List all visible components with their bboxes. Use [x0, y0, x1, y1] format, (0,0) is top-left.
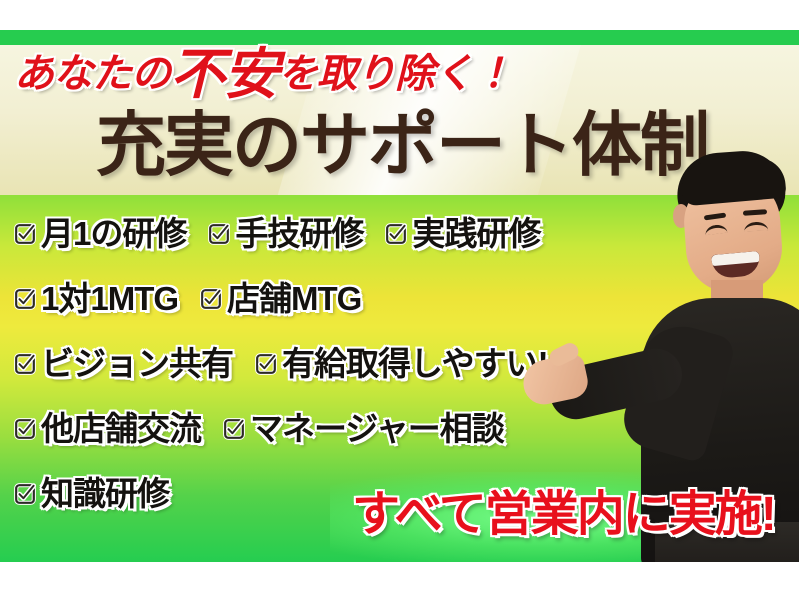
list-item-label: 手技研修 — [235, 217, 363, 250]
checkbox-checked-icon — [14, 353, 36, 375]
checkbox-checked-icon — [14, 288, 36, 310]
bottom-letterbox — [0, 562, 799, 600]
checkbox-checked-icon — [200, 288, 222, 310]
list-item: 店舗MTG — [200, 282, 361, 315]
list-item: ビジョン共有 — [14, 347, 233, 380]
list-item: 他店舗交流 — [14, 412, 201, 445]
checkbox-checked-icon — [223, 418, 245, 440]
list-item: 有給取得しやすい! — [255, 347, 548, 380]
checklist-row: 1対1MTG 店舗MTG — [14, 282, 383, 315]
checklist-row: 他店舗交流 マネージャー相談 — [14, 412, 526, 445]
list-item: 実践研修 — [385, 217, 540, 250]
list-item-label: 実践研修 — [412, 217, 540, 250]
checkbox-checked-icon — [14, 483, 36, 505]
kicker-small-text: あなたの — [14, 54, 170, 94]
page-title: 充実のサポート体制 — [0, 102, 740, 188]
list-item-label: 他店舗交流 — [41, 412, 201, 445]
checkbox-checked-icon — [208, 223, 230, 245]
top-green-rule — [0, 30, 799, 45]
list-item-label: マネージャー相談 — [250, 412, 504, 445]
list-item: 手技研修 — [208, 217, 363, 250]
top-letterbox — [0, 0, 799, 30]
checkbox-checked-icon — [14, 418, 36, 440]
list-item-label: ビジョン共有 — [41, 347, 233, 380]
list-item: 月1の研修 — [14, 217, 186, 250]
checkbox-checked-icon — [255, 353, 277, 375]
list-item: マネージャー相談 — [223, 412, 504, 445]
list-item-label: 月1の研修 — [41, 217, 186, 250]
checkbox-checked-icon — [14, 223, 36, 245]
list-item: 1対1MTG — [14, 282, 178, 315]
list-item: 知識研修 — [14, 477, 169, 510]
kicker-tail-text: を取り除く！ — [278, 54, 512, 94]
list-item-label: 1対1MTG — [41, 282, 178, 315]
bottom-slogan: すべて営業内に実施! — [352, 484, 792, 546]
checklist-row: ビジョン共有 有給取得しやすい! — [14, 347, 570, 380]
kicker-large-text: 不安 — [170, 47, 278, 102]
promo-banner: あなたの不安を取り除く！ 充実のサポート体制 月1の研修 — [0, 0, 799, 600]
list-item-label: 知識研修 — [41, 477, 169, 510]
list-item-label: 店舗MTG — [227, 282, 361, 315]
list-item-label: 有給取得しやすい! — [282, 347, 548, 380]
checklist-row: 月1の研修 手技研修 — [14, 217, 562, 250]
checkbox-checked-icon — [385, 223, 407, 245]
kicker-line: あなたの不安を取り除く！ — [0, 44, 620, 104]
checklist-row: 知識研修 — [14, 477, 191, 510]
